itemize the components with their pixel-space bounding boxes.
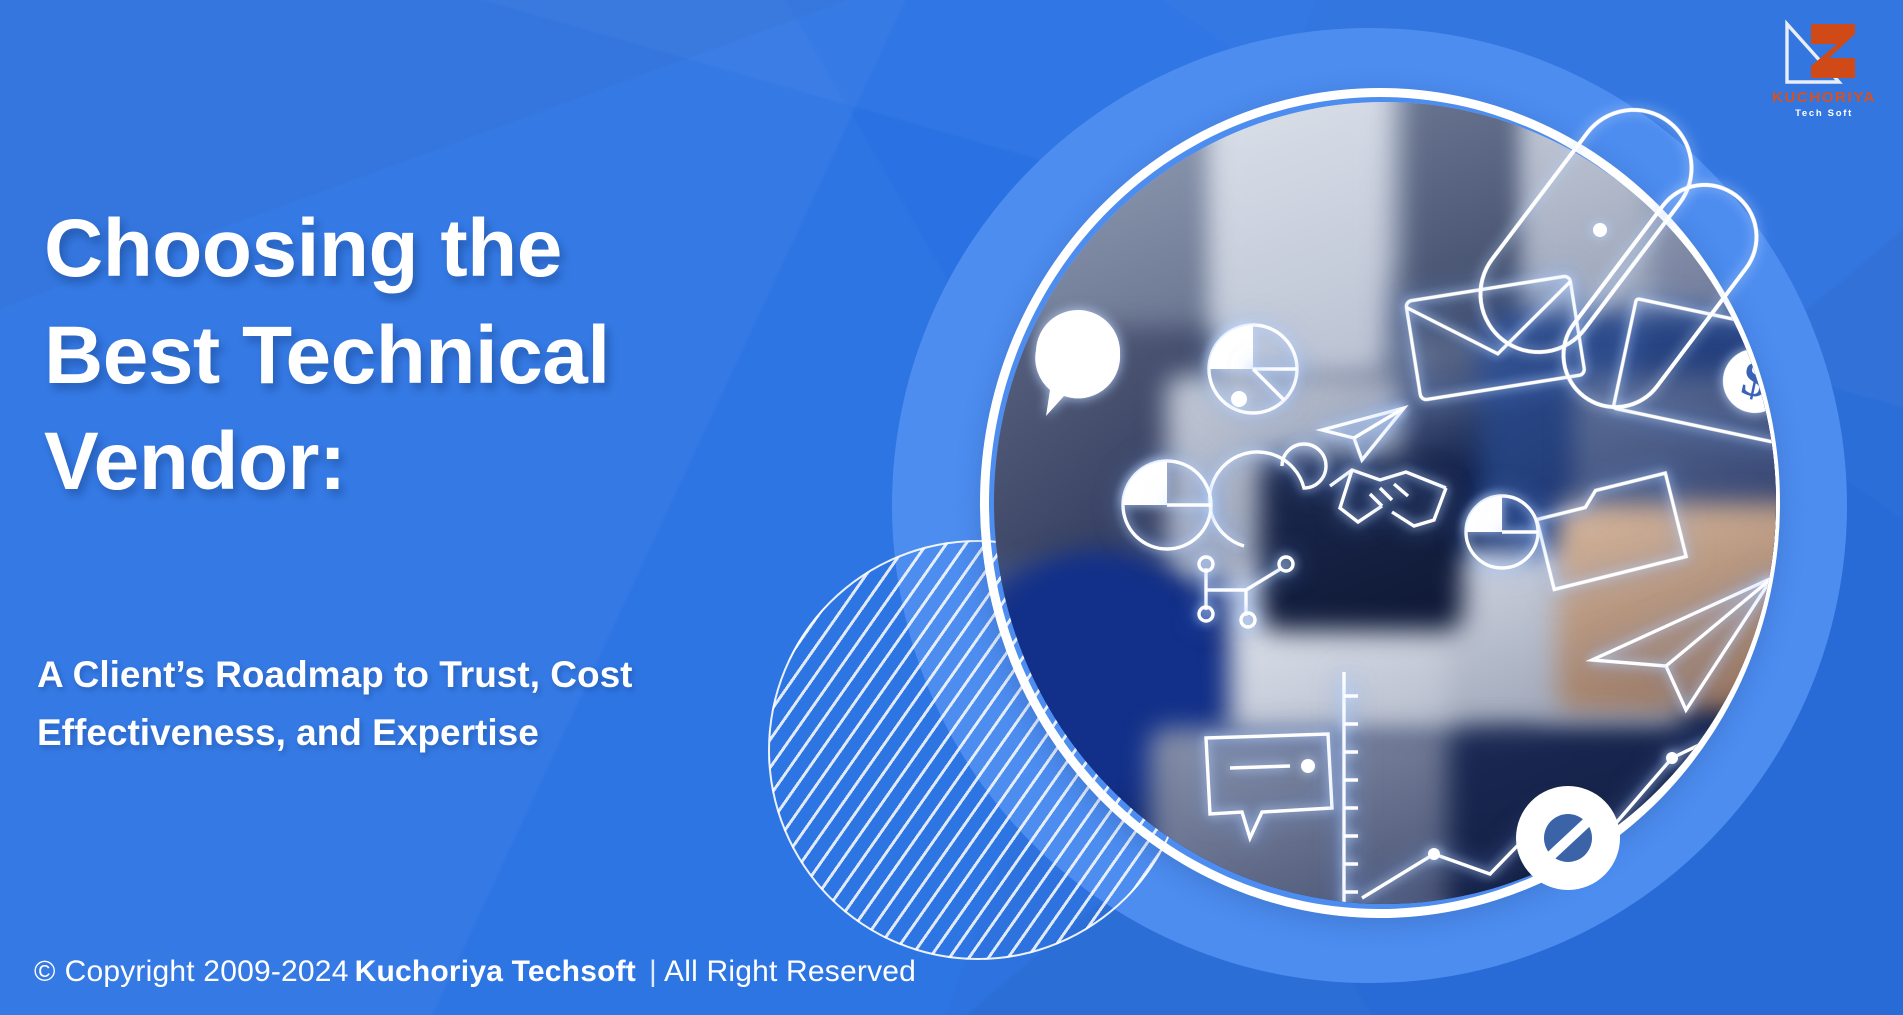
- blog-banner: $: [0, 0, 1903, 1015]
- page-title: Choosing the Best Technical Vendor:: [44, 196, 874, 516]
- pie-chart-icon: [1112, 450, 1222, 560]
- speech-bubble-icon: [1016, 320, 1136, 440]
- company-logo[interactable]: KUCHORIYA Tech Soft: [1760, 18, 1888, 119]
- rights-text: All Right Reserved: [664, 955, 916, 989]
- hero-graphic: $: [880, 0, 1903, 1015]
- handshake-icon: [1318, 442, 1468, 552]
- brand-name: Kuchoriya Techsoft: [355, 955, 636, 989]
- network-nodes-icon: [1190, 546, 1300, 646]
- copyright-text: Copyright 2009-2024: [65, 955, 349, 989]
- page-subtitle: A Client’s Roadmap to Trust, Cost Effect…: [37, 646, 897, 763]
- copyright-icon: ©: [34, 956, 56, 989]
- pie-chart-icon: [1456, 486, 1548, 578]
- dot-icon: [1226, 386, 1252, 412]
- footer-copyright: © Copyright 2009-2024 Kuchoriya Techsoft…: [34, 955, 916, 989]
- pie-chart-icon: [1198, 314, 1308, 424]
- kuchoriya-monogram-icon: [1777, 18, 1871, 88]
- logo-wordmark: KUCHORIYA: [1760, 90, 1888, 105]
- footer-divider: |: [649, 955, 657, 989]
- logo-tagline: Tech Soft: [1760, 108, 1888, 119]
